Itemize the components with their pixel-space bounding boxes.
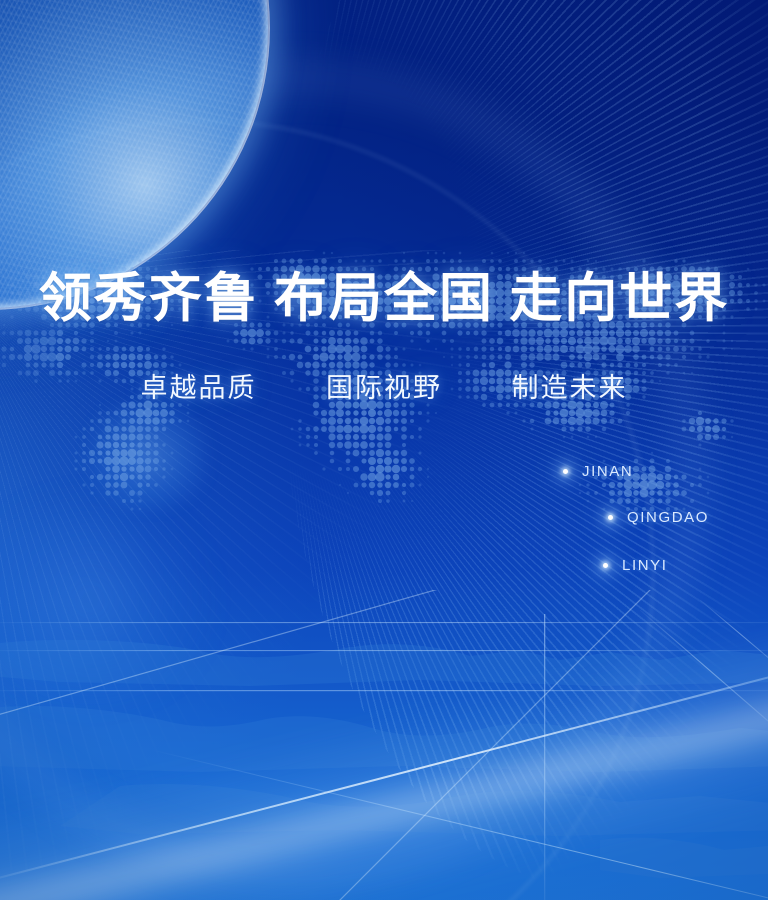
subtitle-part-2: 国际视野 <box>326 373 442 403</box>
city-marker-qingdao[interactable]: QINGDAO <box>608 509 709 526</box>
city-label: JINAN <box>582 463 633 480</box>
map-pin-dot-icon <box>603 563 608 568</box>
city-label: QINGDAO <box>627 509 709 526</box>
background-bottom-light <box>0 570 768 900</box>
page-subtitle: 卓越品质 国际视野 制造未来 <box>0 370 768 406</box>
city-marker-jinan[interactable]: JINAN <box>563 463 633 480</box>
map-pin-dot-icon <box>608 515 613 520</box>
page-title: 领秀齐鲁 布局全国 走向世界 <box>0 268 768 330</box>
subtitle-part-1: 卓越品质 <box>141 373 257 403</box>
city-label: LINYI <box>622 557 668 574</box>
subtitle-part-3: 制造未来 <box>512 373 628 403</box>
city-marker-linyi[interactable]: LINYI <box>603 557 668 574</box>
map-pin-dot-icon <box>563 469 568 474</box>
banner-hero: 领秀齐鲁 布局全国 走向世界 卓越品质 国际视野 制造未来 JINAN QING… <box>0 0 768 900</box>
